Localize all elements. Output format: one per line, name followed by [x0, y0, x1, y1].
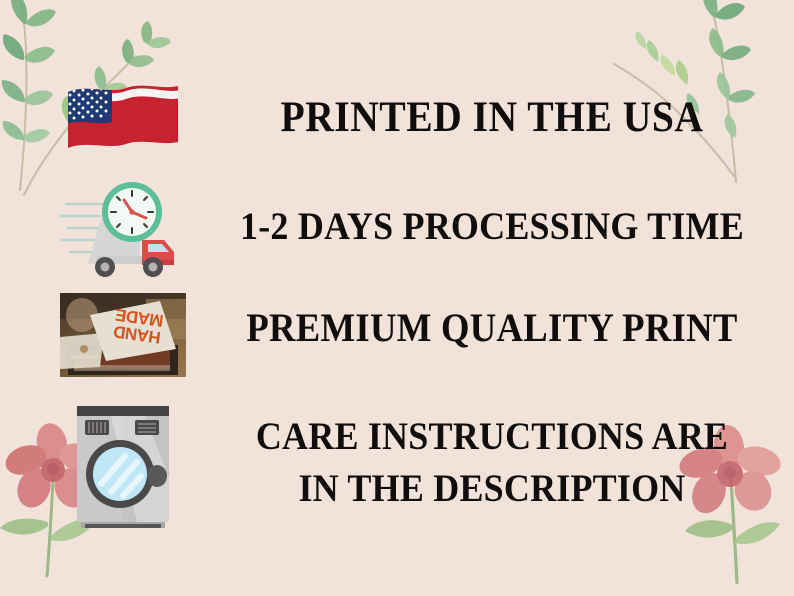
headline-processing-time: 1-2 DAYS PROCESSING TIME — [232, 206, 752, 246]
washing-machine-icon — [67, 398, 179, 534]
product-info-poster: HAND MADE — [0, 0, 794, 596]
row-3-icon-slot: HAND MADE — [0, 290, 246, 380]
headline-care-instructions-line2: IN THE DESCRIPTION — [232, 468, 752, 508]
usa-flag-icon — [64, 80, 182, 160]
row-2-icon-slot — [0, 176, 246, 284]
fast-shipping-clock-truck-icon — [60, 178, 186, 282]
headline-premium-quality-print: PREMIUM QUALITY PRINT — [235, 308, 750, 349]
text-column: PRINTED IN THE USA 1-2 DAYS PROCESSING T… — [232, 0, 752, 596]
icon-column: HAND MADE — [0, 0, 246, 596]
row-1-icon-slot — [0, 72, 246, 168]
handmade-screen-print-photo: HAND MADE — [60, 293, 186, 377]
headline-care-instructions-line1: CARE INSTRUCTIONS ARE — [232, 416, 752, 456]
headline-printed-in-usa: PRINTED IN THE USA — [235, 95, 750, 138]
row-4-icon-slot — [0, 392, 246, 540]
